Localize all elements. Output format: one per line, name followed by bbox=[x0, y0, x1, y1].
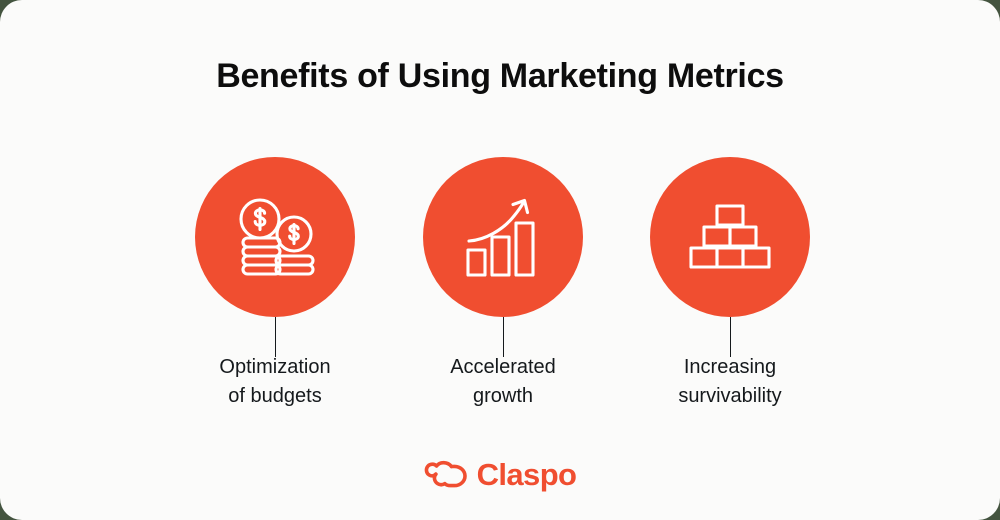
benefit-icon-circle bbox=[423, 157, 583, 317]
benefit-connector-line bbox=[730, 317, 732, 357]
coins-stack-icon bbox=[232, 198, 318, 276]
benefit-item-optimization-of-budgets: Optimization of budgets bbox=[155, 157, 395, 417]
benefit-label-line: Increasing bbox=[610, 353, 850, 382]
infographic-card: Benefits of Using Marketing Metrics bbox=[0, 0, 1000, 520]
benefit-item-increasing-survivability: Increasing survivability bbox=[610, 157, 850, 417]
page-title: Benefits of Using Marketing Metrics bbox=[0, 57, 1000, 96]
benefit-icon-circle bbox=[195, 157, 355, 317]
benefit-connector-line bbox=[275, 317, 277, 357]
claspo-cloud-icon bbox=[424, 460, 468, 488]
benefit-label-line: survivability bbox=[610, 382, 850, 411]
benefit-label-line: growth bbox=[383, 382, 623, 411]
brand-logo-text: Claspo bbox=[477, 459, 577, 490]
benefit-label-line: Optimization bbox=[155, 353, 395, 382]
benefit-label-line: of budgets bbox=[155, 382, 395, 411]
benefits-row: Optimization of budgets bbox=[0, 157, 1000, 417]
growth-chart-icon bbox=[465, 197, 541, 277]
benefit-icon-circle bbox=[650, 157, 810, 317]
benefit-label: Increasing survivability bbox=[610, 353, 850, 411]
benefit-label: Optimization of budgets bbox=[155, 353, 395, 411]
benefit-label: Accelerated growth bbox=[383, 353, 623, 411]
brick-pyramid-icon bbox=[687, 203, 773, 271]
benefit-label-line: Accelerated bbox=[383, 353, 623, 382]
brand-logo: Claspo bbox=[0, 452, 1000, 496]
benefit-connector-line bbox=[503, 317, 505, 357]
benefit-item-accelerated-growth: Accelerated growth bbox=[383, 157, 623, 417]
